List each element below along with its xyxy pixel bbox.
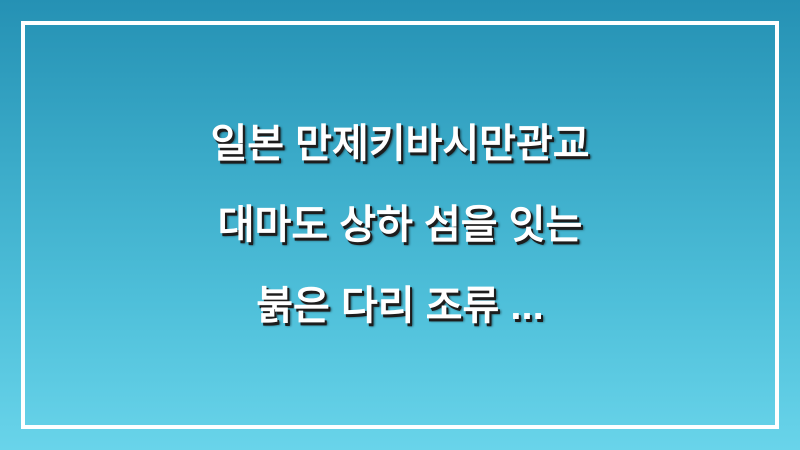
title-block: 일본 만제키바시만관교 대마도 상하 섬을 잇는 붉은 다리 조류 ... bbox=[0, 0, 800, 450]
title-line-1: 일본 만제키바시만관교 bbox=[46, 104, 754, 185]
title-line-2: 대마도 상하 섬을 잇는 bbox=[46, 185, 754, 266]
title-line-3: 붉은 다리 조류 ... bbox=[46, 266, 754, 347]
thumbnail-card[interactable]: 일본 만제키바시만관교 대마도 상하 섬을 잇는 붉은 다리 조류 ... bbox=[0, 0, 800, 450]
